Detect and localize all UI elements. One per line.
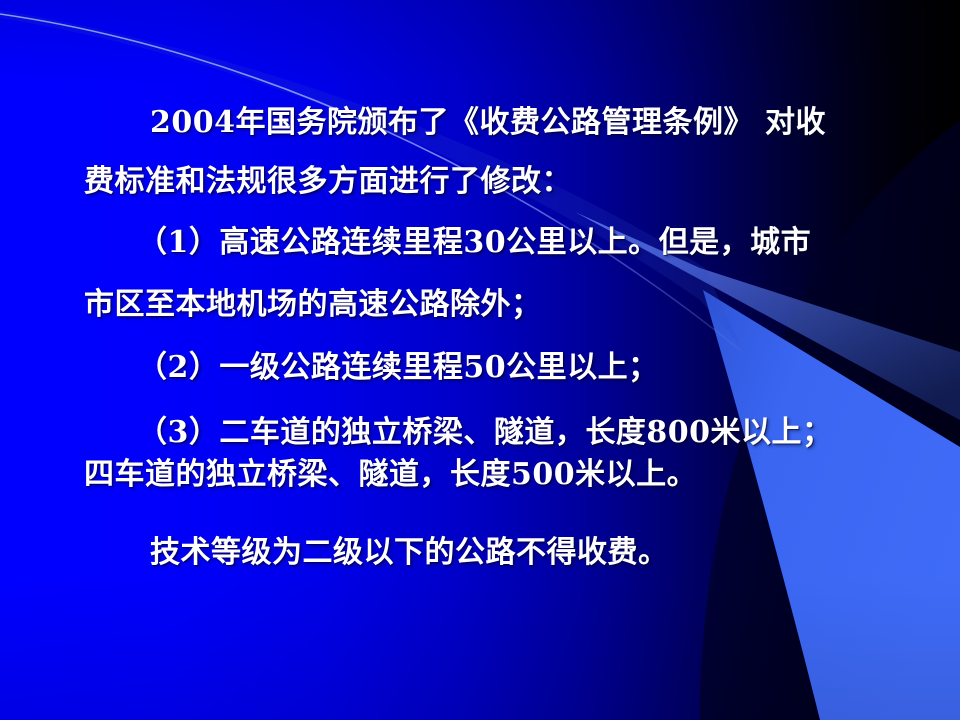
- body-line-1: 2004年国务院颁布了《收费公路管理条例》 对收: [150, 108, 826, 138]
- slide-text-body: 2004年国务院颁布了《收费公路管理条例》 对收 费标准和法规很多方面进行了修改…: [0, 0, 960, 720]
- body-line-8: 技术等级为二级以下的公路不得收费。: [150, 538, 669, 568]
- body-line-2: 费标准和法规很多方面进行了修改：: [84, 167, 572, 197]
- body-line-6: （3）二车道的独立桥梁、隧道，长度800米以上；: [137, 418, 833, 448]
- body-line-7: 四车道的独立桥梁、隧道，长度500米以上。: [84, 460, 697, 490]
- presentation-slide: 2004年国务院颁布了《收费公路管理条例》 对收 费标准和法规很多方面进行了修改…: [0, 0, 960, 720]
- body-line-5: （2）一级公路连续里程50公里以上；: [137, 353, 659, 383]
- body-line-3: （1）高速公路连续里程30公里以上。但是，城市: [137, 228, 811, 258]
- body-line-4: 市区至本地机场的高速公路除外；: [84, 290, 542, 320]
